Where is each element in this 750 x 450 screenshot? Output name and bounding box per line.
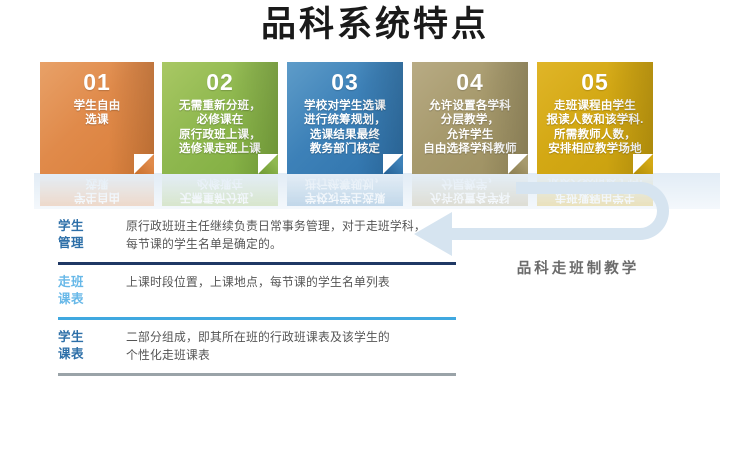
table-row-body: 上课时段位置，上课地点，每节课的学生名单列表: [120, 274, 456, 292]
card-text-line: 报读人数和该学科.: [540, 113, 650, 127]
page-title: 品科系统特点: [0, 2, 750, 48]
card-number: 01: [40, 69, 154, 96]
card-02[interactable]: 02无需重新分班，必修课在原行政班上课，选修课走班上课: [162, 62, 278, 174]
table-row-label: 走班课表: [58, 274, 120, 308]
card-text-line: 选课结果最终: [290, 128, 400, 142]
card-05[interactable]: 05走班课程由学生报读人数和该学科.所需教师人数，安排相应教学场地: [537, 62, 653, 174]
card-text-line: 所需教师人数，: [540, 128, 650, 142]
card-reflection-text: 学校对学生选课进行统筹规划，选课结果最终教务部门核定: [287, 174, 403, 206]
card-reflection: 无需重新分班，必修课在原行政班上课，选修课走班上课: [162, 174, 278, 206]
table-row-body: 原行政班班主任继续负责日常事务管理，对于走班学科，每节课的学生名单是确定的。: [120, 218, 456, 253]
table-row-label-line: 学生: [58, 329, 120, 346]
card-number: 03: [287, 69, 403, 96]
card-text-line: 原行政班上课，: [165, 128, 275, 142]
detail-table: 学生管理原行政班班主任继续负责日常事务管理，对于走班学科，每节课的学生名单是确定…: [58, 209, 456, 376]
card-reflection-text: 学生自由选课: [40, 175, 154, 206]
table-row-label: 学生课表: [58, 329, 120, 363]
card-text: 学生自由选课: [40, 99, 154, 128]
card-reflection: 学校对学生选课进行统筹规划，选课结果最终教务部门核定: [287, 174, 403, 206]
table-row-body: 二部分组成，即其所在班的行政班课表及该学生的个性化走班课表: [120, 329, 456, 364]
feature-cards-row: 01学生自由选课02无需重新分班，必修课在原行政班上课，选修课走班上课03学校对…: [40, 62, 710, 174]
table-row-body-line: 个性化走班课表: [126, 347, 456, 365]
card-text-line: 走班课程由学生: [540, 99, 650, 113]
card-text: 允许设置各学科分层教学，允许学生自由选择学科教师: [412, 99, 528, 157]
card-number: 02: [162, 69, 278, 96]
card-number: 05: [537, 69, 653, 96]
card-text-line: 进行统筹规划，: [290, 113, 400, 127]
table-row-label-line: 管理: [58, 235, 120, 252]
table-row-body-line: 上课时段位置，上课地点，每节课的学生名单列表: [126, 274, 456, 292]
card-text-line: 选课: [43, 113, 151, 127]
card-03[interactable]: 03学校对学生选课进行统筹规划，选课结果最终教务部门核定: [287, 62, 403, 174]
table-row-body-line: 二部分组成，即其所在班的行政班课表及该学生的: [126, 329, 456, 347]
table-row-label-line: 课表: [58, 346, 120, 363]
table-row-label: 学生管理: [58, 218, 120, 252]
table-row[interactable]: 走班课表上课时段位置，上课地点，每节课的学生名单列表: [58, 265, 456, 317]
card-text: 学校对学生选课进行统筹规划，选课结果最终教务部门核定: [287, 99, 403, 157]
table-row-divider: [58, 373, 456, 376]
card-text-line: 允许学生: [415, 128, 525, 142]
card-text-line: 无需重新分班，: [165, 99, 275, 113]
card-text-line: 学生自由: [43, 99, 151, 113]
card-01[interactable]: 01学生自由选课: [40, 62, 154, 174]
card-reflection-text: 无需重新分班，必修课在原行政班上课，选修课走班上课: [162, 174, 278, 206]
table-row-label-line: 学生: [58, 218, 120, 235]
loop-arrow-label: 品科走班制教学: [478, 257, 678, 278]
card-reflection: 学生自由选课: [40, 174, 154, 206]
table-row-body-line: 原行政班班主任继续负责日常事务管理，对于走班学科，: [126, 218, 456, 236]
card-04[interactable]: 04允许设置各学科分层教学，允许学生自由选择学科教师: [412, 62, 528, 174]
table-row[interactable]: 学生管理原行政班班主任继续负责日常事务管理，对于走班学科，每节课的学生名单是确定…: [58, 209, 456, 262]
table-row[interactable]: 学生课表二部分组成，即其所在班的行政班课表及该学生的个性化走班课表: [58, 320, 456, 373]
table-row-body-line: 每节课的学生名单是确定的。: [126, 236, 456, 254]
card-text-line: 必修课在: [165, 113, 275, 127]
slide-canvas: 品科系统特点 01学生自由选课02无需重新分班，必修课在原行政班上课，选修课走班…: [0, 0, 750, 450]
table-row-label-line: 课表: [58, 291, 120, 308]
card-text-line: 学校对学生选课: [290, 99, 400, 113]
card-text: 无需重新分班，必修课在原行政班上课，选修课走班上课: [162, 99, 278, 157]
card-number: 04: [412, 69, 528, 96]
table-row-label-line: 走班: [58, 274, 120, 291]
card-text: 走班课程由学生报读人数和该学科.所需教师人数，安排相应教学场地: [537, 99, 653, 157]
card-text-line: 分层教学，: [415, 113, 525, 127]
card-text-line: 允许设置各学科: [415, 99, 525, 113]
